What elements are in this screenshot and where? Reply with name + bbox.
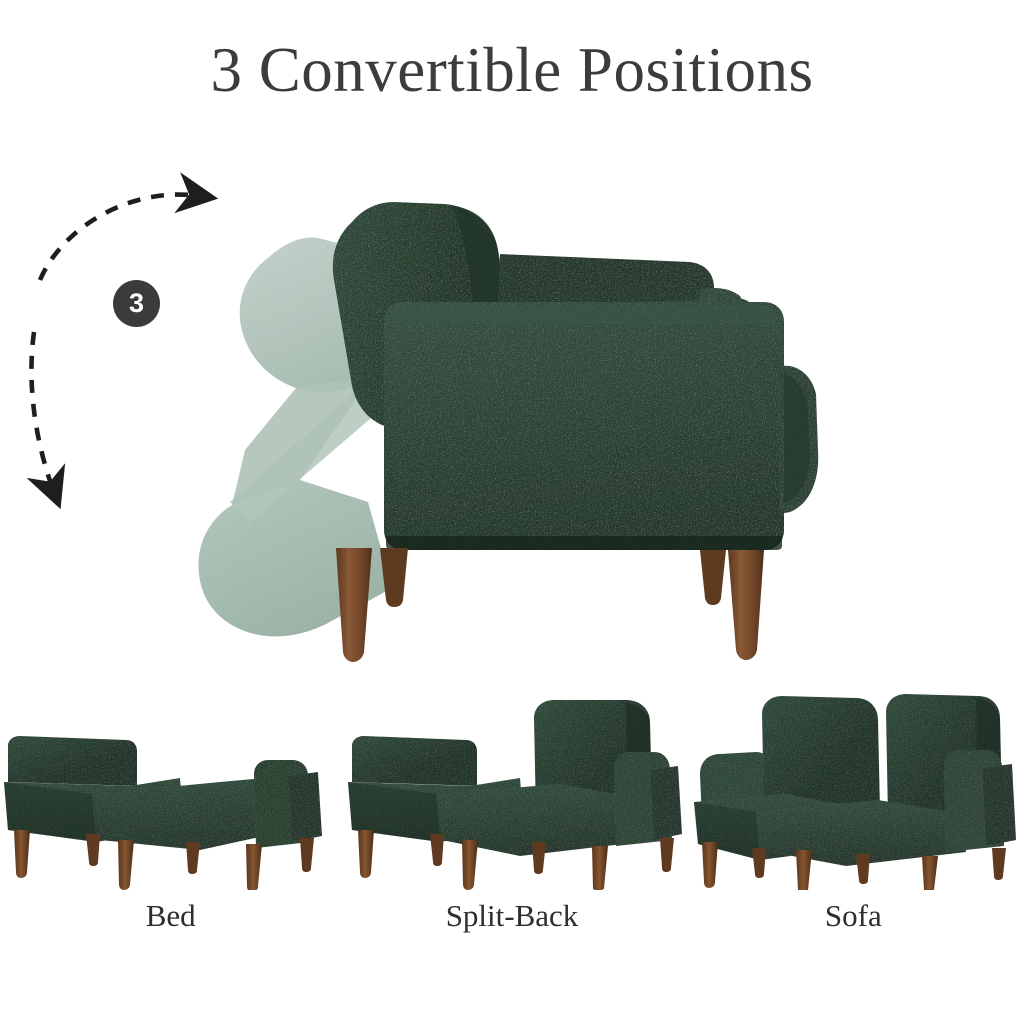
position-label-sofa: Sofa [683,898,1024,934]
leg [700,550,726,605]
near-armrest-bulge [778,366,818,514]
sofa-side-panel [384,302,784,550]
leg [462,840,478,890]
badge-number: 3 [129,290,144,318]
position-count-badge: 3 [113,280,160,327]
curved-dashed-arrow-up-icon [40,195,200,280]
badge-circle: 3 [113,280,160,327]
page-title: 3 Convertible Positions [0,36,1024,105]
leg [922,856,938,890]
leg [796,850,812,890]
leg [992,848,1006,880]
position-label-split-back: Split-Back [341,898,682,934]
leg [246,844,262,890]
leg [752,848,766,878]
leg [702,842,718,888]
leg [660,838,674,872]
leg [14,830,30,878]
position-label-bed: Bed [0,898,341,934]
leg [856,854,870,884]
position-thumbnail-row [0,690,1024,890]
leg [380,548,408,607]
hero-illustration [0,150,1024,690]
thumbnail-sofa [694,694,1016,890]
position-labels: Bed Split-Back Sofa [0,898,1024,934]
leg [186,842,200,874]
motion-arrows [31,195,200,492]
leg [430,834,444,866]
leg [300,838,314,872]
infographic-page: 3 Convertible Positions [0,0,1024,1024]
leg [728,550,764,660]
leg [336,548,372,662]
curved-dashed-arrow-down-icon [31,332,54,492]
leg [592,846,608,890]
sofa-legs [336,548,764,662]
thumbnail-split-back [348,700,682,890]
leg [86,834,100,866]
leg [532,842,546,874]
thumbnail-bed [4,736,322,890]
sofa-side-view-graphic [0,150,1024,690]
leg [358,830,374,878]
leg [118,840,134,890]
